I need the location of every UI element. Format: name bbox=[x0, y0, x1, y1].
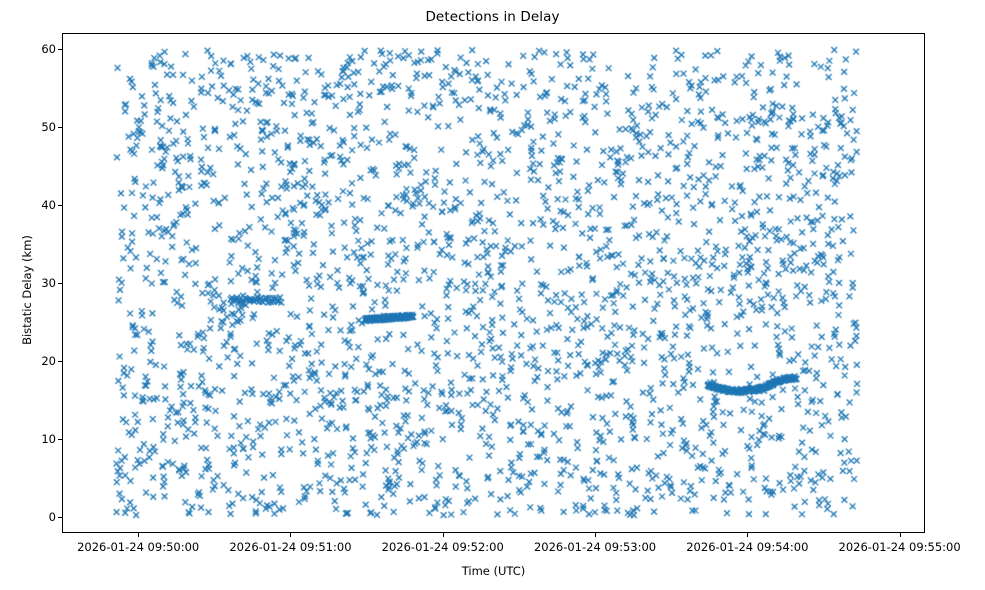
y-tick-label: 10 bbox=[4, 432, 56, 446]
y-tick-label: 50 bbox=[4, 120, 56, 134]
x-tick-label: 2026-01-24 09:50:00 bbox=[77, 540, 199, 554]
y-tick-mark bbox=[58, 205, 62, 206]
x-tick-mark bbox=[747, 533, 748, 537]
x-tick-label: 2026-01-24 09:52:00 bbox=[382, 540, 504, 554]
x-axis-label: Time (UTC) bbox=[62, 564, 925, 578]
y-tick-label: 60 bbox=[4, 42, 56, 56]
matplotlib-figure: Detections in Delay 0102030405060 Time (… bbox=[0, 0, 985, 590]
x-tick-label: 2026-01-24 09:53:00 bbox=[534, 540, 656, 554]
x-tick-mark bbox=[900, 533, 901, 537]
x-tick-label: 2026-01-24 09:54:00 bbox=[686, 540, 808, 554]
y-tick-label: 0 bbox=[4, 510, 56, 524]
x-tick-label: 2026-01-24 09:55:00 bbox=[839, 540, 961, 554]
y-tick-mark bbox=[58, 127, 62, 128]
y-axis-label: Bistatic Delay (km) bbox=[20, 160, 34, 420]
y-tick-mark bbox=[58, 361, 62, 362]
y-tick-mark bbox=[58, 439, 62, 440]
x-tick-mark bbox=[443, 533, 444, 537]
page-title: Detections in Delay bbox=[0, 9, 985, 25]
y-tick-mark bbox=[58, 49, 62, 50]
scatter-plot-canvas bbox=[63, 34, 925, 533]
plot-axes bbox=[62, 33, 925, 533]
x-tick-mark bbox=[595, 533, 596, 537]
y-tick-mark bbox=[58, 283, 62, 284]
x-tick-mark bbox=[138, 533, 139, 537]
x-tick-label: 2026-01-24 09:51:00 bbox=[229, 540, 351, 554]
y-tick-mark bbox=[58, 517, 62, 518]
x-tick-mark bbox=[290, 533, 291, 537]
